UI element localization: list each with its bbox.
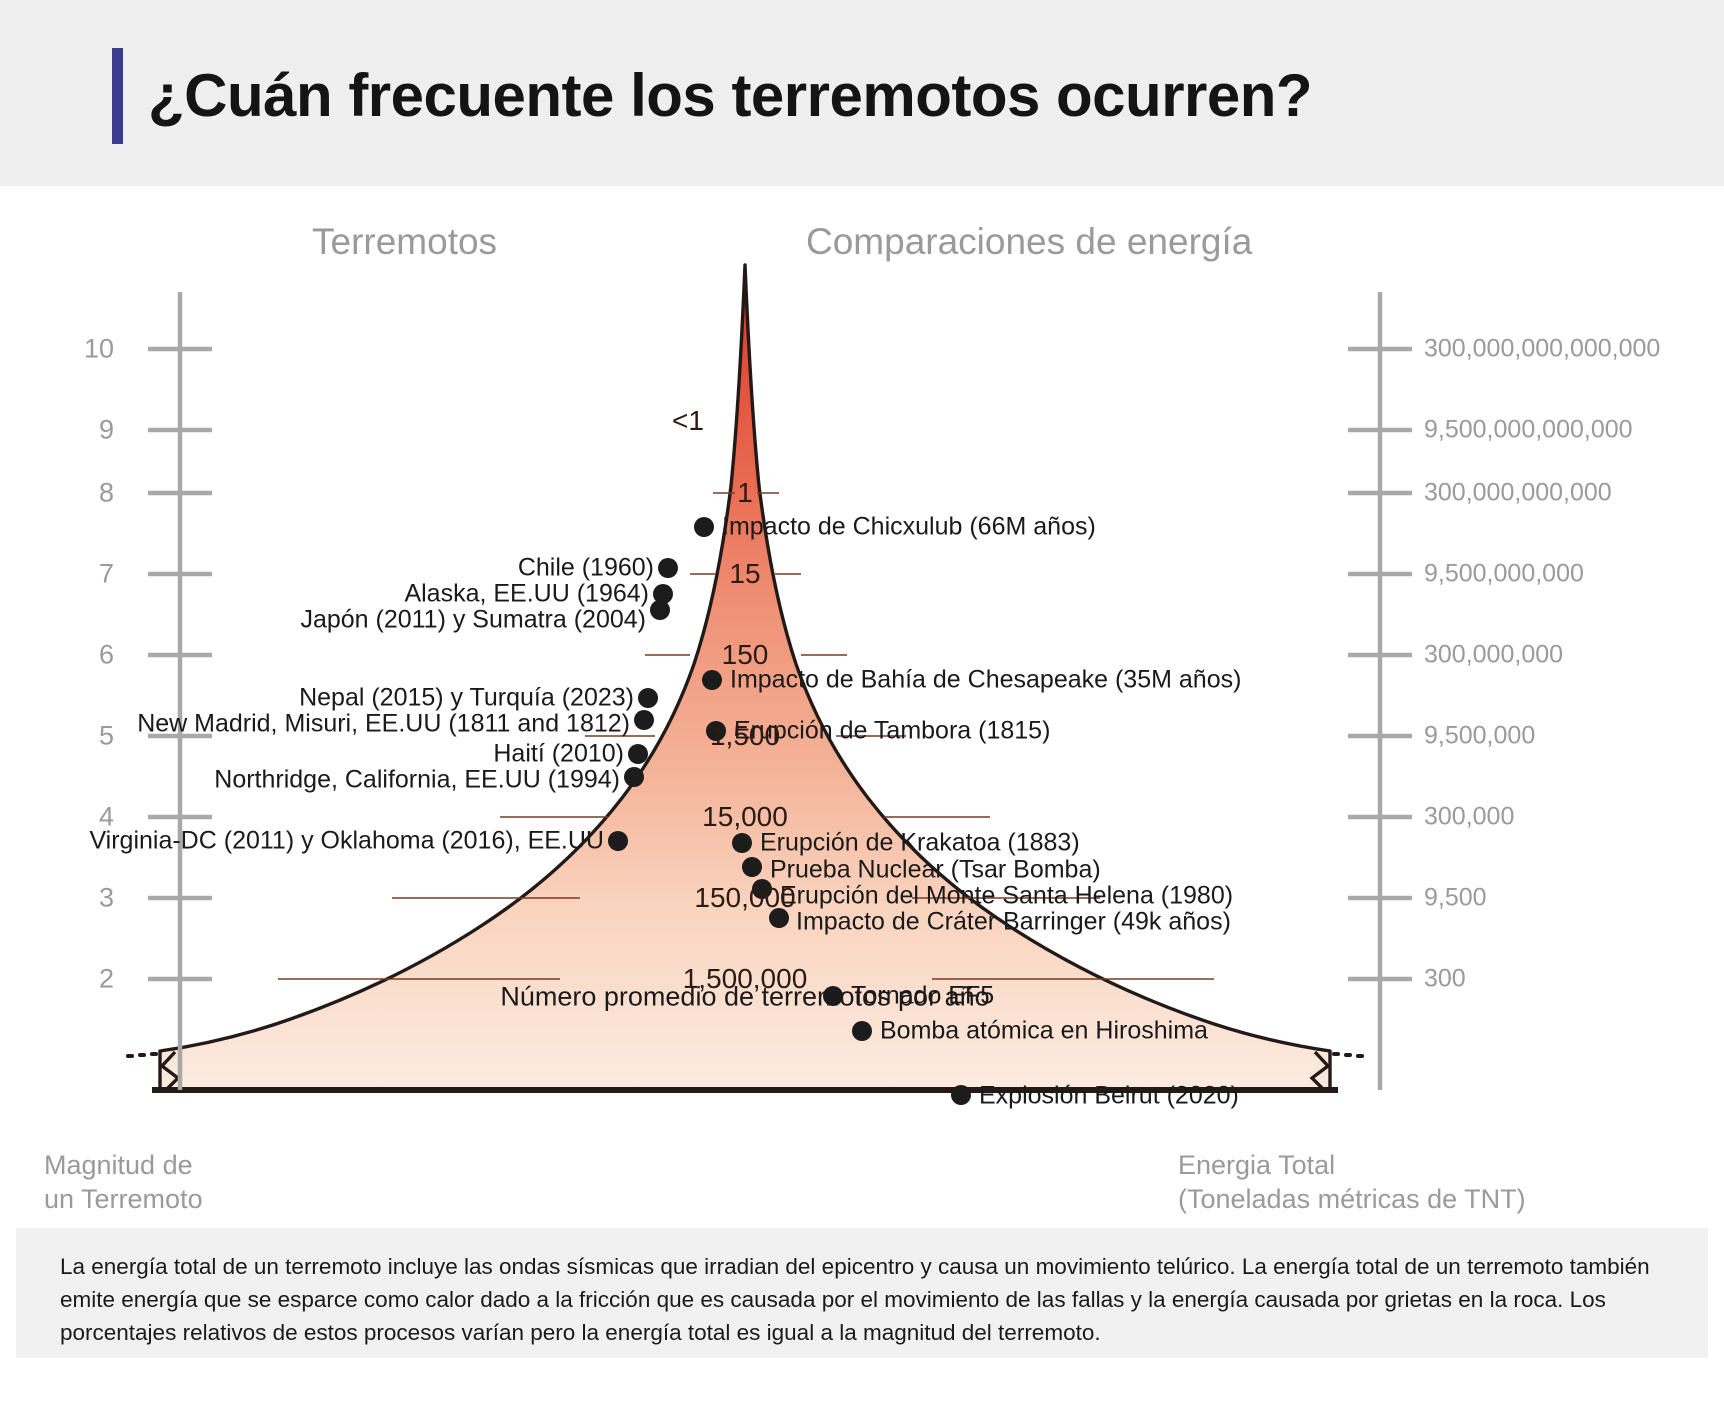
energy-comparison-label: Impacto de Chicxulub (66M años) [722, 513, 1096, 542]
magnitude-tick-label: 5 [54, 721, 114, 752]
funnel-caption: Número promedio de terremotos por año [500, 982, 989, 1013]
energy-comparison-label: Erupción del Monte Santa Helena (1980) [780, 882, 1233, 911]
energy-comparison-label: Impacto de Bahía de Chesapeake (35M años… [730, 666, 1241, 695]
energy-comparison-label: Bomba atómica en Hiroshima [880, 1017, 1208, 1046]
earthquake-label: Haití (2010) [493, 740, 624, 769]
earthquake-label: Japón (2011) y Sumatra (2004) [300, 606, 646, 635]
energy-axis [1348, 292, 1412, 1090]
magnitude-tick-label: 9 [54, 415, 114, 446]
frequency-label: 15 [729, 558, 760, 590]
title-accent-bar [112, 48, 123, 144]
earthquake-label: New Madrid, Misuri, EE.UU (1811 and 1812… [137, 710, 630, 739]
energy-axis-caption-line1: Energia Total [1178, 1148, 1526, 1182]
energy-comparison-label: Erupción de Tambora (1815) [734, 717, 1050, 746]
magnitude-tick-label: 3 [54, 883, 114, 914]
earthquake-label: Chile (1960) [518, 554, 654, 583]
magnitude-tick-label: 6 [54, 640, 114, 671]
frequency-label: 150,000 [694, 882, 795, 914]
frequency-label: 150 [722, 639, 769, 671]
frequency-label: 1 [737, 477, 753, 509]
column-heading-energy: Comparaciones de energía [806, 221, 1252, 263]
energy-tick-label: 300,000,000 [1424, 641, 1563, 670]
energy-tick-label: 9,500,000 [1424, 722, 1535, 751]
frequency-label: <1 [672, 405, 704, 437]
frequency-label: 1,500 [710, 720, 780, 752]
energy-axis-caption-line2: (Toneladas métricas de TNT) [1178, 1182, 1526, 1216]
energy-tick-label: 300,000 [1424, 803, 1514, 832]
column-heading-earthquakes: Terremotos [312, 221, 497, 263]
energy-tick-label: 9,500,000,000,000 [1424, 416, 1633, 445]
magnitude-axis [148, 292, 212, 1090]
earthquake-label: Northridge, California, EE.UU (1994) [214, 766, 620, 795]
earthquake-label: Virginia-DC (2011) y Oklahoma (2016), EE… [89, 827, 604, 856]
chart-area: Terremotos Comparaciones de energía 10 9… [0, 186, 1724, 1126]
energy-comparison-label: Erupción de Krakatoa (1883) [760, 829, 1080, 858]
magnitude-tick-label: 8 [54, 478, 114, 509]
magnitude-tick-label: 7 [54, 559, 114, 590]
magnitude-axis-caption-line1: Magnitud de [44, 1148, 203, 1182]
energy-tick-label: 300,000,000,000 [1424, 479, 1612, 508]
energy-comparison-label: Impacto de Cráter Barringer (49k años) [796, 908, 1231, 937]
footer-note: La energía total de un terremoto incluye… [16, 1228, 1708, 1358]
footer-note-text: La energía total de un terremoto incluye… [60, 1250, 1664, 1349]
magnitude-tick-label: 2 [54, 964, 114, 995]
energy-tick-label: 9,500 [1424, 884, 1487, 913]
frequency-label: 15,000 [702, 801, 788, 833]
earthquake-label: Nepal (2015) y Turquía (2023) [299, 684, 634, 713]
energy-tick-label: 300 [1424, 965, 1466, 994]
magnitude-tick-label: 10 [54, 334, 114, 365]
energy-axis-caption: Energia Total (Toneladas métricas de TNT… [1178, 1148, 1526, 1216]
page-title: ¿Cuán frecuente los terremotos ocurren? [148, 48, 1312, 144]
energy-tick-label: 300,000,000,000,000 [1424, 335, 1660, 364]
energy-tick-label: 9,500,000,000 [1424, 560, 1584, 589]
earthquake-label: Alaska, EE.UU (1964) [404, 580, 649, 609]
energy-comparison-label: Prueba Nuclear (Tsar Bomba) [770, 856, 1101, 885]
energy-comparison-label: Explosión Beirut (2020) [979, 1082, 1239, 1111]
magnitude-axis-caption: Magnitud de un Terremoto [44, 1148, 203, 1216]
magnitude-axis-caption-line2: un Terremoto [44, 1182, 203, 1216]
page-header: ¿Cuán frecuente los terremotos ocurren? [0, 0, 1724, 186]
